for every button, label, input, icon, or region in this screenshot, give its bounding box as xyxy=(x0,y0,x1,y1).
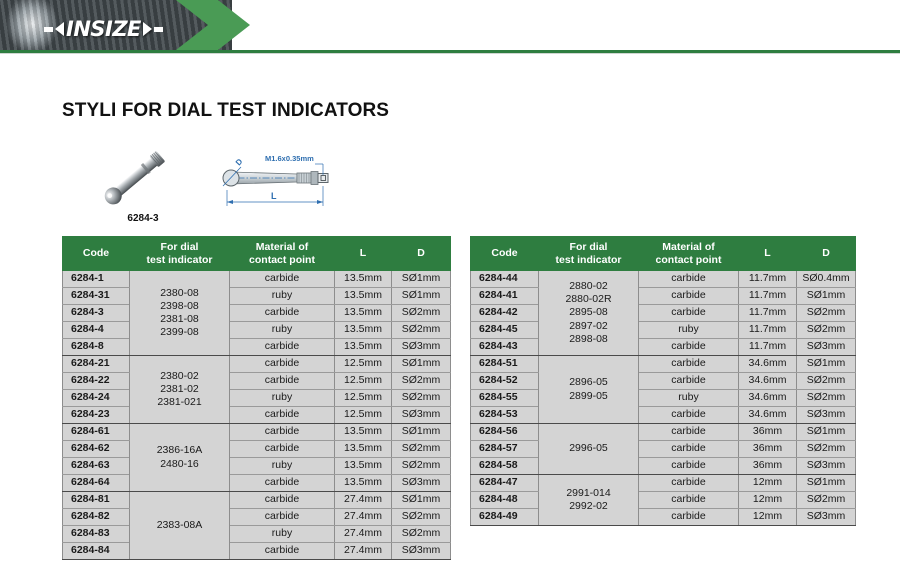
cell-material: carbide xyxy=(639,475,739,492)
cell-l: 13.5mm xyxy=(335,305,392,322)
table-row: 6284-43carbide11.7mmSØ3mm xyxy=(471,339,856,356)
cell-d: SØ1mm xyxy=(797,356,856,373)
cell-l: 27.4mm xyxy=(335,543,392,560)
cell-d: SØ3mm xyxy=(797,407,856,424)
table-row: 6284-3carbide13.5mmSØ2mm xyxy=(63,305,451,322)
cell-material: carbide xyxy=(230,305,335,322)
cell-l: 12.5mm xyxy=(335,373,392,390)
cell-material: ruby xyxy=(639,390,739,407)
cell-d: SØ1mm xyxy=(392,424,451,441)
insize-logo: INSIZE xyxy=(44,17,163,41)
cell-d: SØ1mm xyxy=(392,288,451,305)
col-for-dial-line2: test indicator xyxy=(147,254,213,266)
cell-d: SØ3mm xyxy=(392,339,451,356)
cell-code: 6284-58 xyxy=(471,458,539,475)
table-row: 6284-48carbide12mmSØ2mm xyxy=(471,492,856,509)
cell-l: 12mm xyxy=(739,509,797,526)
table-row: 6284-22carbide12.5mmSØ2mm xyxy=(63,373,451,390)
styli-table-right: Code For dial test indicator Material of… xyxy=(470,236,856,526)
cell-l: 36mm xyxy=(739,424,797,441)
cell-l: 27.4mm xyxy=(335,492,392,509)
table-row: 6284-12380-082398-082381-082399-08carbid… xyxy=(63,271,451,288)
cell-d: SØ1mm xyxy=(797,424,856,441)
cell-material: carbide xyxy=(230,475,335,492)
cell-l: 13.5mm xyxy=(335,475,392,492)
cell-d: SØ2mm xyxy=(797,322,856,339)
cell-code: 6284-61 xyxy=(63,424,130,441)
col-material-of-contact-point: Material of contact point xyxy=(230,237,335,271)
table-row: 6284-84carbide27.4mmSØ3mm xyxy=(63,543,451,560)
cell-l: 12.5mm xyxy=(335,390,392,407)
cell-code: 6284-4 xyxy=(63,322,130,339)
table-row: 6284-58carbide36mmSØ3mm xyxy=(471,458,856,475)
header-banner: INSIZE xyxy=(0,0,900,56)
table-row: 6284-442880-022880-02R2895-082897-022898… xyxy=(471,271,856,288)
cell-d: SØ2mm xyxy=(392,305,451,322)
cell-code: 6284-31 xyxy=(63,288,130,305)
cell-code: 6284-41 xyxy=(471,288,539,305)
cell-code: 6284-64 xyxy=(63,475,130,492)
table-header-left: Code For dial test indicator Material of… xyxy=(63,237,451,271)
cell-code: 6284-45 xyxy=(471,322,539,339)
col-d: D xyxy=(392,237,451,271)
cell-d: SØ2mm xyxy=(392,441,451,458)
table-row: 6284-52carbide34.6mmSØ2mm xyxy=(471,373,856,390)
cell-l: 13.5mm xyxy=(335,458,392,475)
cell-l: 13.5mm xyxy=(335,441,392,458)
table-row: 6284-57carbide36mmSØ2mm xyxy=(471,441,856,458)
cell-d: SØ2mm xyxy=(797,441,856,458)
cell-d: SØ2mm xyxy=(797,390,856,407)
table-row: 6284-562996-05carbide36mmSØ1mm xyxy=(471,424,856,441)
thread-spec-label: M1.6x0.35mm xyxy=(265,154,314,163)
table-row: 6284-212380-022381-022381-021carbide12.5… xyxy=(63,356,451,373)
table-row: 6284-472991-0142992-02carbide12mmSØ1mm xyxy=(471,475,856,492)
col-l: L xyxy=(335,237,392,271)
cell-d: SØ3mm xyxy=(392,543,451,560)
header-row: Code For dial test indicator Material of… xyxy=(471,237,856,271)
cell-code: 6284-21 xyxy=(63,356,130,373)
col-l: L xyxy=(739,237,797,271)
cell-d: SØ3mm xyxy=(797,458,856,475)
cell-code: 6284-81 xyxy=(63,492,130,509)
col-for-dial-test-indicator: For dial test indicator xyxy=(130,237,230,271)
col-for-dial-test-indicator: For dial test indicator xyxy=(539,237,639,271)
cell-material: carbide xyxy=(639,305,739,322)
cell-d: SØ1mm xyxy=(392,271,451,288)
cell-material: carbide xyxy=(230,356,335,373)
page-title: STYLI FOR DIAL TEST INDICATORS xyxy=(62,100,389,122)
cell-l: 12mm xyxy=(739,492,797,509)
cell-l: 34.6mm xyxy=(739,373,797,390)
header-row: Code For dial test indicator Material of… xyxy=(63,237,451,271)
cell-d: SØ1mm xyxy=(797,475,856,492)
table-row: 6284-42carbide11.7mmSØ2mm xyxy=(471,305,856,322)
cell-d: SØ3mm xyxy=(797,509,856,526)
cell-material: carbide xyxy=(639,356,739,373)
col-code: Code xyxy=(471,237,539,271)
cell-for-dial-test-indicator: 2386-16A2480-16 xyxy=(130,424,230,492)
table-body-left: 6284-12380-082398-082381-082399-08carbid… xyxy=(63,271,451,560)
cell-for-dial-test-indicator: 2880-022880-02R2895-082897-022898-08 xyxy=(539,271,639,356)
cell-material: carbide xyxy=(230,373,335,390)
cell-code: 6284-47 xyxy=(471,475,539,492)
cell-l: 36mm xyxy=(739,458,797,475)
cell-material: carbide xyxy=(230,424,335,441)
cell-code: 6284-51 xyxy=(471,356,539,373)
cell-code: 6284-44 xyxy=(471,271,539,288)
cell-material: carbide xyxy=(230,407,335,424)
cell-l: 36mm xyxy=(739,441,797,458)
table-row: 6284-63ruby13.5mmSØ2mm xyxy=(63,458,451,475)
dimension-l-label: L xyxy=(271,191,277,201)
col-material-line2: contact point xyxy=(656,254,722,266)
table-row: 6284-612386-16A2480-16carbide13.5mmSØ1mm xyxy=(63,424,451,441)
cell-material: carbide xyxy=(639,288,739,305)
cell-code: 6284-43 xyxy=(471,339,539,356)
cell-material: carbide xyxy=(639,339,739,356)
cell-l: 27.4mm xyxy=(335,509,392,526)
cell-d: SØ2mm xyxy=(392,526,451,543)
cell-code: 6284-55 xyxy=(471,390,539,407)
cell-l: 12.5mm xyxy=(335,356,392,373)
cell-l: 11.7mm xyxy=(739,322,797,339)
stylus-product-photo xyxy=(85,138,190,213)
cell-d: SØ2mm xyxy=(392,509,451,526)
table-row: 6284-49carbide12mmSØ3mm xyxy=(471,509,856,526)
cell-code: 6284-48 xyxy=(471,492,539,509)
cell-material: ruby xyxy=(639,322,739,339)
cell-d: SØ1mm xyxy=(797,288,856,305)
cell-material: carbide xyxy=(639,373,739,390)
cell-l: 34.6mm xyxy=(739,356,797,373)
cell-code: 6284-57 xyxy=(471,441,539,458)
cell-material: carbide xyxy=(639,492,739,509)
cell-for-dial-test-indicator: 2380-022381-022381-021 xyxy=(130,356,230,424)
cell-code: 6284-24 xyxy=(63,390,130,407)
cell-d: SØ1mm xyxy=(392,492,451,509)
cell-code: 6284-22 xyxy=(63,373,130,390)
cell-material: carbide xyxy=(230,339,335,356)
cell-material: carbide xyxy=(639,509,739,526)
cell-for-dial-test-indicator: 2996-05 xyxy=(539,424,639,475)
table-row: 6284-55ruby34.6mmSØ2mm xyxy=(471,390,856,407)
cell-l: 11.7mm xyxy=(739,288,797,305)
cell-code: 6284-56 xyxy=(471,424,539,441)
cell-material: ruby xyxy=(230,526,335,543)
cell-d: SØ2mm xyxy=(797,492,856,509)
table-row: 6284-23carbide12.5mmSØ3mm xyxy=(63,407,451,424)
table-row: 6284-24ruby12.5mmSØ2mm xyxy=(63,390,451,407)
cell-l: 13.5mm xyxy=(335,322,392,339)
table-row: 6284-64carbide13.5mmSØ3mm xyxy=(63,475,451,492)
cell-material: carbide xyxy=(639,458,739,475)
cell-l: 13.5mm xyxy=(335,288,392,305)
table-row: 6284-812383-08Acarbide27.4mmSØ1mm xyxy=(63,492,451,509)
cell-material: carbide xyxy=(230,509,335,526)
cell-d: SØ2mm xyxy=(797,305,856,322)
cell-for-dial-test-indicator: 2380-082398-082381-082399-08 xyxy=(130,271,230,356)
table-row: 6284-31ruby13.5mmSØ1mm xyxy=(63,288,451,305)
cell-code: 6284-53 xyxy=(471,407,539,424)
table-row: 6284-41carbide11.7mmSØ1mm xyxy=(471,288,856,305)
header-rule-shadow xyxy=(0,53,900,54)
cell-material: ruby xyxy=(230,322,335,339)
table-row: 6284-83ruby27.4mmSØ2mm xyxy=(63,526,451,543)
cell-l: 11.7mm xyxy=(739,271,797,288)
cell-d: SØ2mm xyxy=(392,322,451,339)
cell-d: SØ0.4mm xyxy=(797,271,856,288)
col-material-line1: Material of xyxy=(256,241,309,253)
logo-left-arrow-icon xyxy=(55,22,64,36)
cell-code: 6284-23 xyxy=(63,407,130,424)
table-row: 6284-62carbide13.5mmSØ2mm xyxy=(63,441,451,458)
cell-l: 13.5mm xyxy=(335,424,392,441)
table-header-right: Code For dial test indicator Material of… xyxy=(471,237,856,271)
cell-for-dial-test-indicator: 2383-08A xyxy=(130,492,230,560)
col-d: D xyxy=(797,237,856,271)
logo-right-bar xyxy=(154,27,163,32)
cell-d: SØ2mm xyxy=(392,390,451,407)
cell-material: carbide xyxy=(639,424,739,441)
table-row: 6284-8carbide13.5mmSØ3mm xyxy=(63,339,451,356)
styli-table-left: Code For dial test indicator Material of… xyxy=(62,236,451,560)
col-code: Code xyxy=(63,237,130,271)
cell-material: carbide xyxy=(230,441,335,458)
cell-code: 6284-42 xyxy=(471,305,539,322)
cell-material: ruby xyxy=(230,458,335,475)
cell-code: 6284-8 xyxy=(63,339,130,356)
catalog-page: INSIZE STYLI FOR DIAL TEST INDICATORS xyxy=(0,0,900,585)
cell-d: SØ1mm xyxy=(392,356,451,373)
cell-code: 6284-82 xyxy=(63,509,130,526)
cell-material: ruby xyxy=(230,288,335,305)
green-arrow-shape xyxy=(176,0,250,50)
table-row: 6284-512896-052899-05carbide34.6mmSØ1mm xyxy=(471,356,856,373)
cell-code: 6284-52 xyxy=(471,373,539,390)
cell-material: carbide xyxy=(230,492,335,509)
dimension-d-label: D xyxy=(234,157,245,168)
logo-left-bar xyxy=(44,27,53,32)
cell-d: SØ2mm xyxy=(392,458,451,475)
cell-material: carbide xyxy=(639,271,739,288)
photo-caption: 6284-3 xyxy=(88,213,198,224)
col-material-line1: Material of xyxy=(662,241,715,253)
cell-d: SØ3mm xyxy=(392,407,451,424)
table-row: 6284-45ruby11.7mmSØ2mm xyxy=(471,322,856,339)
col-material-line2: contact point xyxy=(249,254,315,266)
cell-material: ruby xyxy=(230,390,335,407)
cell-code: 6284-83 xyxy=(63,526,130,543)
table-body-right: 6284-442880-022880-02R2895-082897-022898… xyxy=(471,271,856,526)
cell-d: SØ2mm xyxy=(797,373,856,390)
cell-code: 6284-63 xyxy=(63,458,130,475)
cell-l: 34.6mm xyxy=(739,390,797,407)
col-for-dial-line1: For dial xyxy=(161,241,199,253)
cell-l: 11.7mm xyxy=(739,339,797,356)
cell-l: 13.5mm xyxy=(335,271,392,288)
cell-l: 11.7mm xyxy=(739,305,797,322)
cell-for-dial-test-indicator: 2991-0142992-02 xyxy=(539,475,639,526)
table-row: 6284-53carbide34.6mmSØ3mm xyxy=(471,407,856,424)
cell-for-dial-test-indicator: 2896-052899-05 xyxy=(539,356,639,424)
cell-l: 27.4mm xyxy=(335,526,392,543)
cell-code: 6284-49 xyxy=(471,509,539,526)
cell-d: SØ3mm xyxy=(797,339,856,356)
cell-l: 12mm xyxy=(739,475,797,492)
cell-d: SØ3mm xyxy=(392,475,451,492)
col-for-dial-line2: test indicator xyxy=(556,254,622,266)
col-for-dial-line1: For dial xyxy=(570,241,608,253)
logo-right-arrow-icon xyxy=(143,22,152,36)
table-row: 6284-82carbide27.4mmSØ2mm xyxy=(63,509,451,526)
cell-material: carbide xyxy=(230,543,335,560)
cell-material: carbide xyxy=(639,407,739,424)
col-material-of-contact-point: Material of contact point xyxy=(639,237,739,271)
logo-text: INSIZE xyxy=(66,17,141,41)
cell-d: SØ2mm xyxy=(392,373,451,390)
stylus-technical-drawing: D M1.6x0.35mm L xyxy=(205,148,360,223)
cell-code: 6284-62 xyxy=(63,441,130,458)
cell-l: 13.5mm xyxy=(335,339,392,356)
cell-code: 6284-3 xyxy=(63,305,130,322)
cell-material: carbide xyxy=(230,271,335,288)
cell-l: 12.5mm xyxy=(335,407,392,424)
cell-material: carbide xyxy=(639,441,739,458)
cell-l: 34.6mm xyxy=(739,407,797,424)
cell-code: 6284-1 xyxy=(63,271,130,288)
cell-code: 6284-84 xyxy=(63,543,130,560)
table-row: 6284-4ruby13.5mmSØ2mm xyxy=(63,322,451,339)
